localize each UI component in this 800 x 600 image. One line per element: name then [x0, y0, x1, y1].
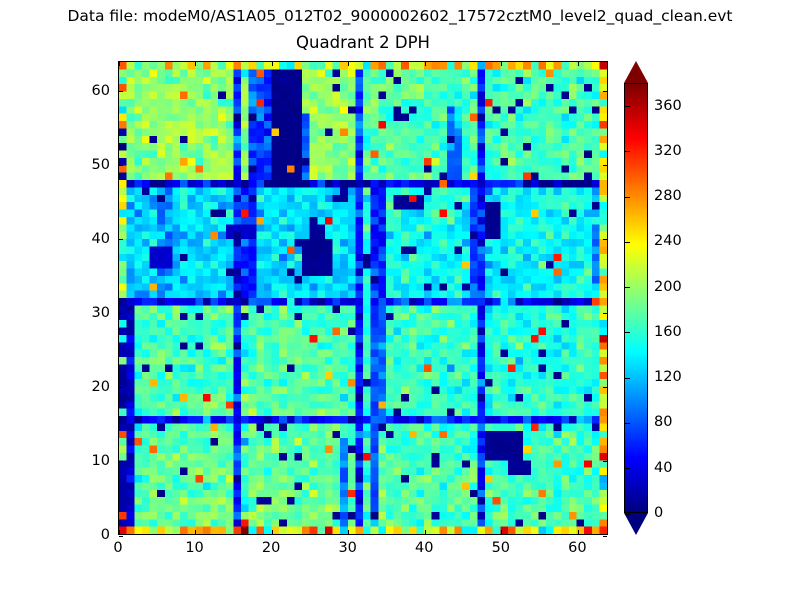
x-tick-label: 60: [568, 540, 586, 556]
x-tick-mark: [272, 62, 273, 66]
y-tick-mark: [119, 387, 123, 388]
colorbar-tick-label: 40: [654, 460, 672, 476]
y-tick-mark: [119, 536, 123, 537]
y-tick-mark: [119, 461, 123, 462]
colorbar-tick-label: 120: [654, 369, 682, 385]
y-tick-label: 50: [70, 157, 110, 173]
colorbar-tick-label: 80: [654, 414, 672, 430]
colorbar-tick-mark: [625, 423, 630, 424]
colorbar-tick-mark: [625, 287, 630, 288]
colorbar-tick-label: 320: [654, 143, 682, 159]
y-tick-label: 10: [70, 453, 110, 469]
colorbar-tick-label: 360: [654, 98, 682, 114]
x-tick-label: 0: [113, 540, 122, 556]
colorbar[interactable]: [624, 61, 648, 535]
x-tick-mark: [195, 62, 196, 66]
x-tick-mark: [195, 530, 196, 534]
x-tick-mark: [425, 62, 426, 66]
x-tick-mark: [272, 530, 273, 534]
x-tick-label: 40: [415, 540, 433, 556]
colorbar-over-arrow-icon: [624, 61, 648, 83]
x-tick-mark: [348, 530, 349, 534]
x-tick-label: 10: [185, 540, 203, 556]
x-tick-mark: [501, 530, 502, 534]
colorbar-tick-mark: [625, 106, 630, 107]
y-tick-mark: [603, 91, 607, 92]
y-tick-mark: [603, 387, 607, 388]
x-tick-label: 20: [262, 540, 280, 556]
y-tick-mark: [119, 91, 123, 92]
detector-heatmap-canvas[interactable]: [119, 62, 607, 534]
y-tick-mark: [603, 461, 607, 462]
colorbar-tick-mark: [625, 151, 630, 152]
x-tick-label: 50: [492, 540, 510, 556]
y-tick-mark: [603, 165, 607, 166]
y-tick-mark: [119, 165, 123, 166]
colorbar-tick-mark: [625, 332, 630, 333]
colorbar-tick-label: 160: [654, 324, 682, 340]
colorbar-tick-mark: [625, 378, 630, 379]
colorbar-tick-mark: [625, 242, 630, 243]
y-tick-label: 60: [70, 83, 110, 99]
y-tick-label: 30: [70, 305, 110, 321]
page-title: Quadrant 2 DPH: [118, 33, 608, 53]
x-tick-mark: [119, 530, 120, 534]
colorbar-under-arrow-icon: [624, 513, 648, 535]
x-tick-mark: [119, 62, 120, 66]
colorbar-gradient: [625, 84, 647, 512]
colorbar-body[interactable]: [624, 83, 648, 513]
y-tick-mark: [119, 313, 123, 314]
colorbar-tick-label: 0: [654, 505, 663, 521]
x-tick-mark: [348, 62, 349, 66]
colorbar-tick-label: 200: [654, 279, 682, 295]
heatmap-axes[interactable]: [118, 61, 608, 535]
colorbar-tick-label: 280: [654, 188, 682, 204]
y-tick-mark: [119, 239, 123, 240]
x-tick-mark: [578, 530, 579, 534]
y-tick-label: 40: [70, 231, 110, 247]
figure-suptitle: Data file: modeM0/AS1A05_012T02_90000026…: [0, 6, 800, 26]
colorbar-tick-mark: [625, 468, 630, 469]
x-tick-label: 30: [338, 540, 356, 556]
y-tick-mark: [603, 239, 607, 240]
x-tick-mark: [578, 62, 579, 66]
y-tick-mark: [603, 536, 607, 537]
colorbar-tick-mark: [625, 514, 630, 515]
x-tick-mark: [425, 530, 426, 534]
colorbar-tick-label: 240: [654, 233, 682, 249]
x-tick-mark: [501, 62, 502, 66]
colorbar-tick-mark: [625, 197, 630, 198]
y-tick-label: 20: [70, 379, 110, 395]
y-tick-mark: [603, 313, 607, 314]
y-tick-label: 0: [70, 527, 110, 543]
